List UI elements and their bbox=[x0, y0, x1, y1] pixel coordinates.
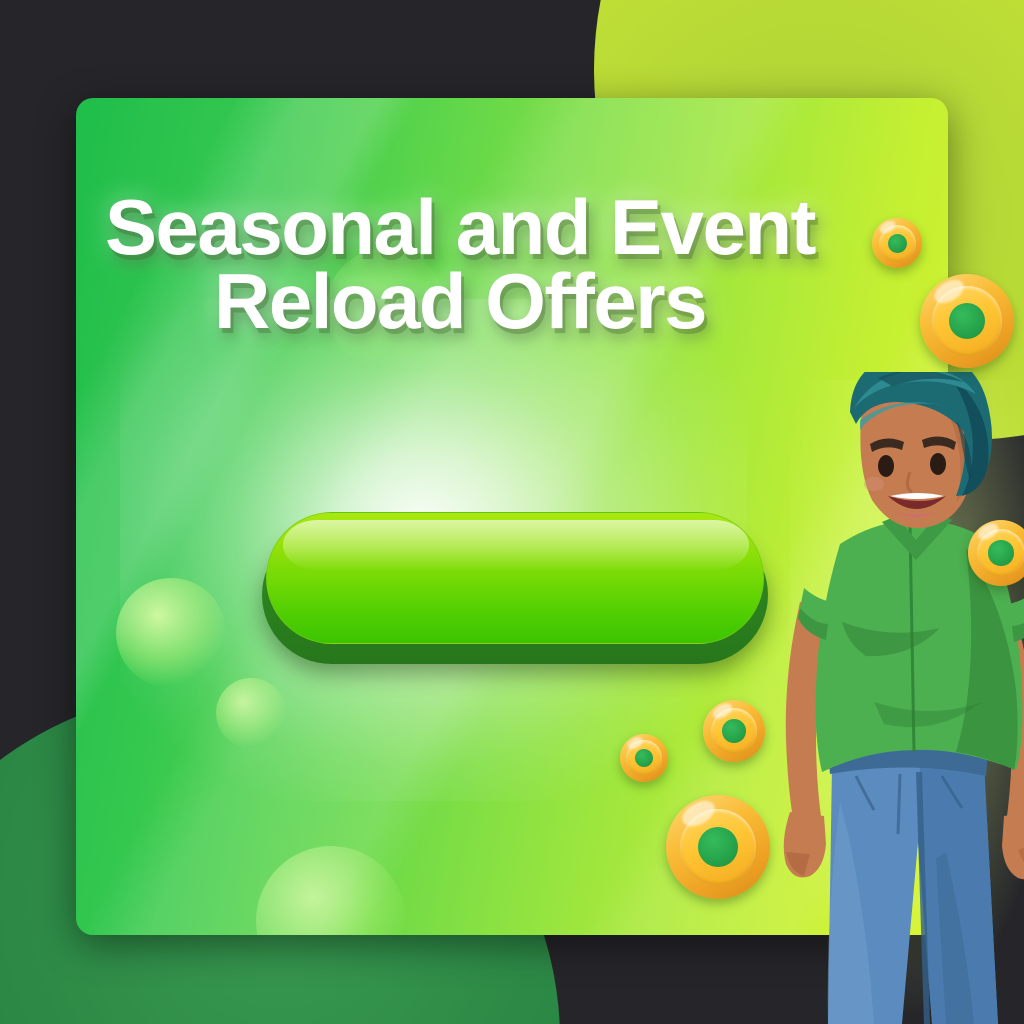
coin-core bbox=[949, 303, 985, 339]
coin-core bbox=[988, 540, 1013, 565]
promo-banner: Seasonal and Event Reload Offers bbox=[0, 0, 1024, 1024]
cta-button[interactable] bbox=[262, 512, 768, 664]
coin-cluster-large bbox=[666, 795, 770, 899]
decorative-orb bbox=[216, 678, 286, 748]
coin-core bbox=[888, 234, 907, 253]
coin-top-right-large bbox=[920, 274, 1014, 368]
coin-cluster-medium bbox=[703, 700, 765, 762]
decorative-orb bbox=[326, 248, 446, 368]
coin-core bbox=[722, 719, 746, 743]
coin-core bbox=[698, 827, 738, 867]
decorative-orb bbox=[256, 846, 406, 935]
cta-button-label bbox=[262, 512, 768, 664]
decorative-orb bbox=[116, 578, 226, 688]
coin-top-right-small bbox=[872, 218, 922, 268]
coin-cluster-small bbox=[620, 734, 668, 782]
